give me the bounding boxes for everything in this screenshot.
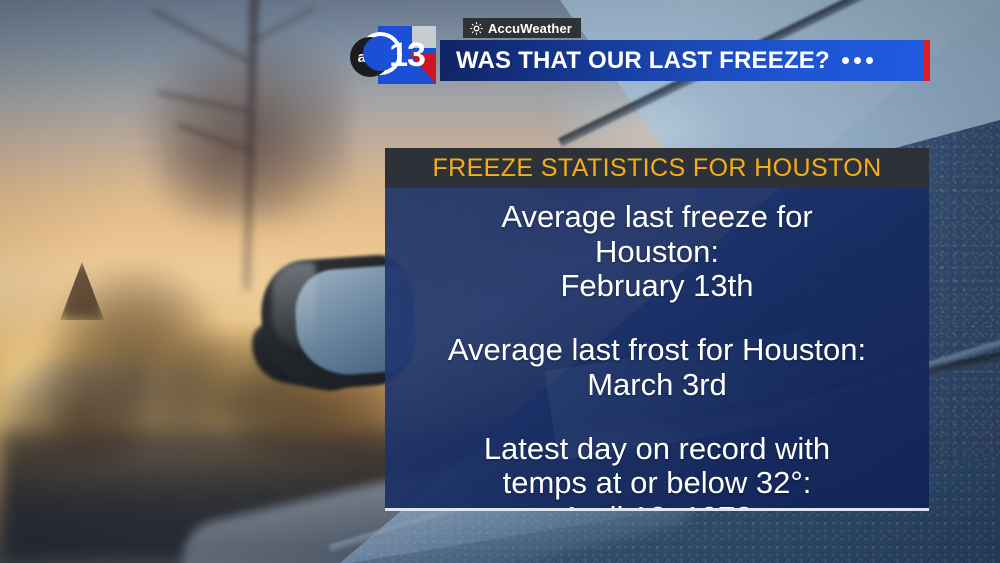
stat-line: temps at or below 32°: (399, 466, 915, 501)
abc13-logo[interactable]: 13 abc (350, 26, 445, 84)
stat-line: Houston: (399, 235, 915, 270)
stat-line: April 10, 1973 (399, 501, 915, 511)
banner-red-accent (924, 40, 930, 81)
stat-line: Average last frost for Houston: (399, 333, 915, 368)
accuweather-badge: AccuWeather (463, 18, 581, 38)
stat-average-last-frost: Average last frost for Houston: March 3r… (385, 333, 929, 402)
ellipsis-icon (842, 57, 873, 64)
broadcast-weather-graphic: AccuWeather WAS THAT OUR LAST FREEZE? 13… (0, 0, 1000, 563)
channel-number: 13 (378, 26, 436, 84)
headline-text: WAS THAT OUR LAST FREEZE? (456, 47, 830, 75)
accuweather-label: AccuWeather (488, 21, 572, 36)
stat-line: Average last freeze for (399, 200, 915, 235)
stat-average-last-freeze: Average last freeze for Houston: Februar… (385, 200, 929, 304)
sun-icon (470, 22, 483, 35)
stat-line: February 13th (399, 269, 915, 304)
freeze-statistics-panel: FREEZE STATISTICS FOR HOUSTON Average la… (385, 148, 929, 515)
stat-line: March 3rd (399, 368, 915, 403)
headline-bar: WAS THAT OUR LAST FREEZE? (440, 40, 930, 81)
mirror-frost-edge (272, 262, 316, 348)
panel-body: Average last freeze for Houston: Februar… (385, 188, 929, 511)
panel-header: FREEZE STATISTICS FOR HOUSTON (385, 148, 929, 188)
stat-line: Latest day on record with (399, 432, 915, 467)
stat-latest-day-on-record: Latest day on record with temps at or be… (385, 432, 929, 511)
